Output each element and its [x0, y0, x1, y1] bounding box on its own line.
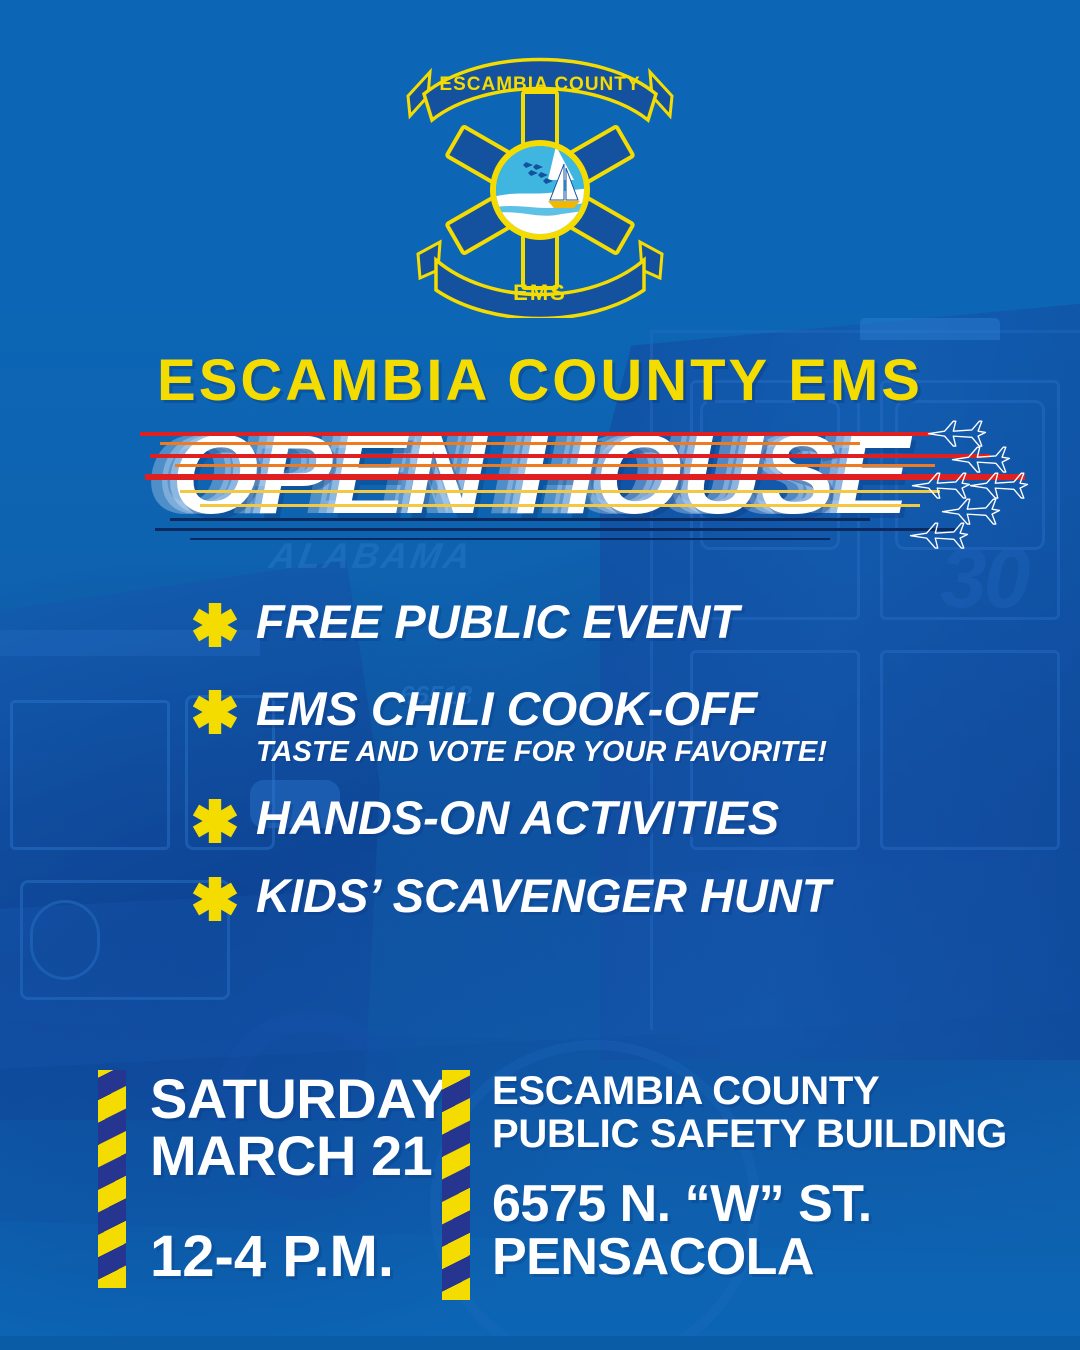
feature-list: FREE PUBLIC EVENT EMS CHILI COOK-OFF TAS…: [0, 596, 1080, 929]
logo-star-of-life-shape: [447, 92, 634, 288]
list-item: EMS CHILI COOK-OFF TASTE AND VOTE FOR YO…: [0, 683, 1080, 770]
jet-icon: [970, 473, 1027, 498]
venue-line2: PUBLIC SAFETY BUILDING: [492, 1113, 1007, 1156]
list-item-subtitle: TASTE AND VOTE FOR YOUR FAVORITE!: [256, 736, 827, 769]
list-item-title: FREE PUBLIC EVENT: [256, 596, 739, 649]
jet-icon: [942, 499, 999, 524]
jet-icon: [952, 447, 1009, 472]
jet-icon: [928, 421, 985, 446]
venue-block: ESCAMBIA COUNTY PUBLIC SAFETY BUILDING 6…: [430, 1070, 1080, 1300]
venue-line1: ESCAMBIA COUNTY: [492, 1070, 1007, 1113]
event-date-line2: MARCH 21: [150, 1127, 457, 1184]
star-of-life-bullet-icon: [192, 876, 238, 922]
list-item: FREE PUBLIC EVENT: [0, 596, 1080, 649]
hazard-stripe-bar: [98, 1070, 126, 1288]
list-item: KIDS’ SCAVENGER HUNT: [0, 870, 1080, 923]
star-of-life-bullet-icon: [192, 602, 238, 648]
background-lightbar: [860, 318, 1000, 340]
date-time-block: SATURDAY, MARCH 21 12-4 P.M.: [0, 1070, 430, 1300]
list-item-title: KIDS’ SCAVENGER HUNT: [256, 870, 831, 923]
kicker-title: ESCAMBIA COUNTY EMS: [0, 352, 1080, 410]
jet-icon: [912, 473, 969, 498]
star-of-life-bullet-icon: [192, 798, 238, 844]
hazard-stripe-bar: [442, 1070, 470, 1300]
ems-logo: ESCAMBIA COUNTY: [390, 38, 690, 318]
venue-address-line1: 6575 N. “W” ST.: [492, 1178, 1007, 1232]
jet-icon: [910, 523, 967, 548]
venue-address-line2: PENSACOLA: [492, 1231, 1007, 1285]
list-item-title: EMS CHILI COOK-OFF: [256, 683, 827, 736]
star-of-life-bullet-icon: [192, 689, 238, 735]
event-details: SATURDAY, MARCH 21 12-4 P.M. ESCAMBIA CO…: [0, 1070, 1080, 1300]
event-date-line1: SATURDAY,: [150, 1070, 457, 1127]
list-item-title: HANDS-ON ACTIVITIES: [256, 792, 779, 845]
event-time: 12-4 P.M.: [150, 1228, 457, 1286]
list-item: HANDS-ON ACTIVITIES: [0, 792, 1080, 845]
streak-navy: [190, 538, 830, 540]
blue-angels-jets: [902, 418, 1042, 578]
background-bottom-band: [0, 1336, 1080, 1350]
logo-bottom-ribbon-label: EMS: [513, 280, 567, 305]
